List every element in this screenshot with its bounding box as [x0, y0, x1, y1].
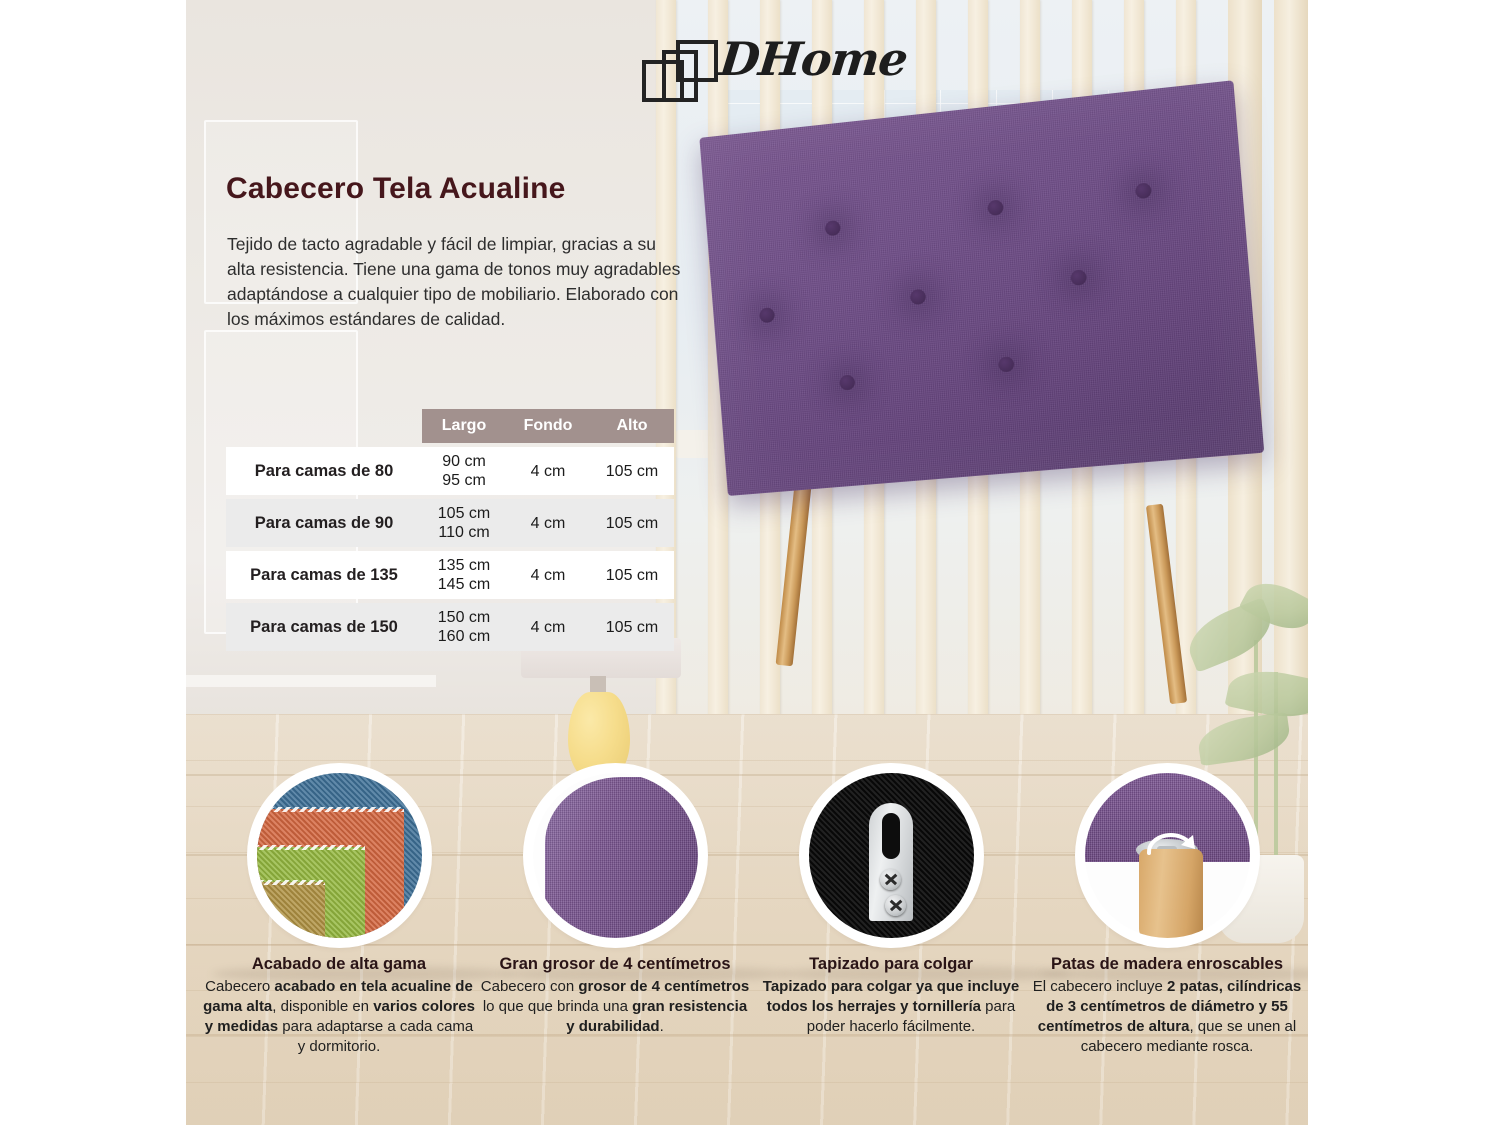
baseboard: [186, 675, 436, 687]
cell-largo: 135 cm145 cm: [422, 556, 506, 594]
cell-alto: 105 cm: [590, 462, 674, 481]
row-label: Para camas de 135: [226, 566, 422, 585]
product-description: Tejido de tacto agradable y fácil de lim…: [227, 232, 689, 332]
headboard-panel: [699, 80, 1264, 496]
feature-title: Acabado de alta gama: [203, 955, 475, 974]
feature-title: Gran grosor de 4 centímetros: [479, 955, 751, 974]
feature-text: El cabecero incluye 2 patas, cilíndricas…: [1031, 977, 1303, 1057]
tufting-button: [839, 374, 855, 390]
cell-alto: 105 cm: [590, 618, 674, 637]
infographic-page: DHome Cabecero Tela Acualine Tejido de t…: [0, 0, 1500, 1125]
column-header-largo: Largo: [422, 417, 506, 435]
column-header-fondo: Fondo: [506, 417, 590, 435]
tufting-button: [1135, 182, 1152, 199]
slat: [656, 0, 676, 800]
feature-title: Patas de madera enroscables: [1031, 955, 1303, 974]
row-label: Para camas de 90: [226, 514, 422, 533]
brand-logo[interactable]: DHome: [640, 36, 880, 100]
feature-gran-grosor: Gran grosor de 4 centímetros Cabecero co…: [479, 768, 751, 1037]
page-title: Cabecero Tela Acualine: [226, 172, 566, 206]
dimensions-table: Largo Fondo Alto Para camas de 80 90 cm9…: [226, 409, 674, 651]
feature-text: Cabecero acabado en tela acualine de gam…: [203, 977, 475, 1057]
row-label: Para camas de 150: [226, 618, 422, 637]
cell-fondo: 4 cm: [506, 462, 590, 481]
tufting-button: [987, 199, 1004, 216]
hanging-bracket-icon: [804, 768, 979, 943]
row-label: Para camas de 80: [226, 462, 422, 481]
feature-acabado-alta-gama: Acabado de alta gama Cabecero acabado en…: [203, 768, 475, 1057]
cell-fondo: 4 cm: [506, 618, 590, 637]
feature-tapizado-colgar: Tapizado para colgar Tapizado para colga…: [755, 768, 1027, 1037]
brand-name: DHome: [717, 32, 910, 86]
feature-patas-enroscables: Patas de madera enroscables El cabecero …: [1031, 768, 1303, 1057]
fabric-swatches-icon: [252, 768, 427, 943]
cell-fondo: 4 cm: [506, 566, 590, 585]
overlapping-squares-icon: [676, 40, 718, 82]
cell-largo: 105 cm110 cm: [422, 504, 506, 542]
right-margin: [1308, 0, 1500, 1125]
feature-text: Tapizado para colgar ya que incluye todo…: [755, 977, 1027, 1037]
headboard-leg-left: [776, 466, 814, 667]
cell-largo: 90 cm95 cm: [422, 452, 506, 490]
table-row: Para camas de 80 90 cm95 cm 4 cm 105 cm: [226, 447, 674, 495]
left-margin: [0, 0, 186, 1125]
fabric-thickness-icon: [528, 768, 703, 943]
headboard-product-image: [728, 136, 1264, 696]
table-header-row: Largo Fondo Alto: [422, 409, 674, 443]
headboard-leg-right: [1146, 504, 1187, 705]
feature-text: Cabecero con grosor de 4 centímetros lo …: [479, 977, 751, 1037]
cell-alto: 105 cm: [590, 514, 674, 533]
table-row: Para camas de 150 150 cm160 cm 4 cm 105 …: [226, 603, 674, 651]
tufting-button: [1070, 269, 1087, 286]
cell-largo: 150 cm160 cm: [422, 608, 506, 646]
tufting-button: [998, 356, 1015, 373]
column-header-alto: Alto: [590, 417, 674, 435]
cell-alto: 105 cm: [590, 566, 674, 585]
rotation-arrow-icon: [1143, 823, 1199, 863]
feature-title: Tapizado para colgar: [755, 955, 1027, 974]
table-row: Para camas de 90 105 cm110 cm 4 cm 105 c…: [226, 499, 674, 547]
table-row: Para camas de 135 135 cm145 cm 4 cm 105 …: [226, 551, 674, 599]
tufting-button: [910, 289, 927, 306]
tufting-button: [825, 220, 841, 237]
cell-fondo: 4 cm: [506, 514, 590, 533]
screw-in-wooden-leg-icon: [1080, 768, 1255, 943]
tufting-button: [759, 307, 775, 323]
